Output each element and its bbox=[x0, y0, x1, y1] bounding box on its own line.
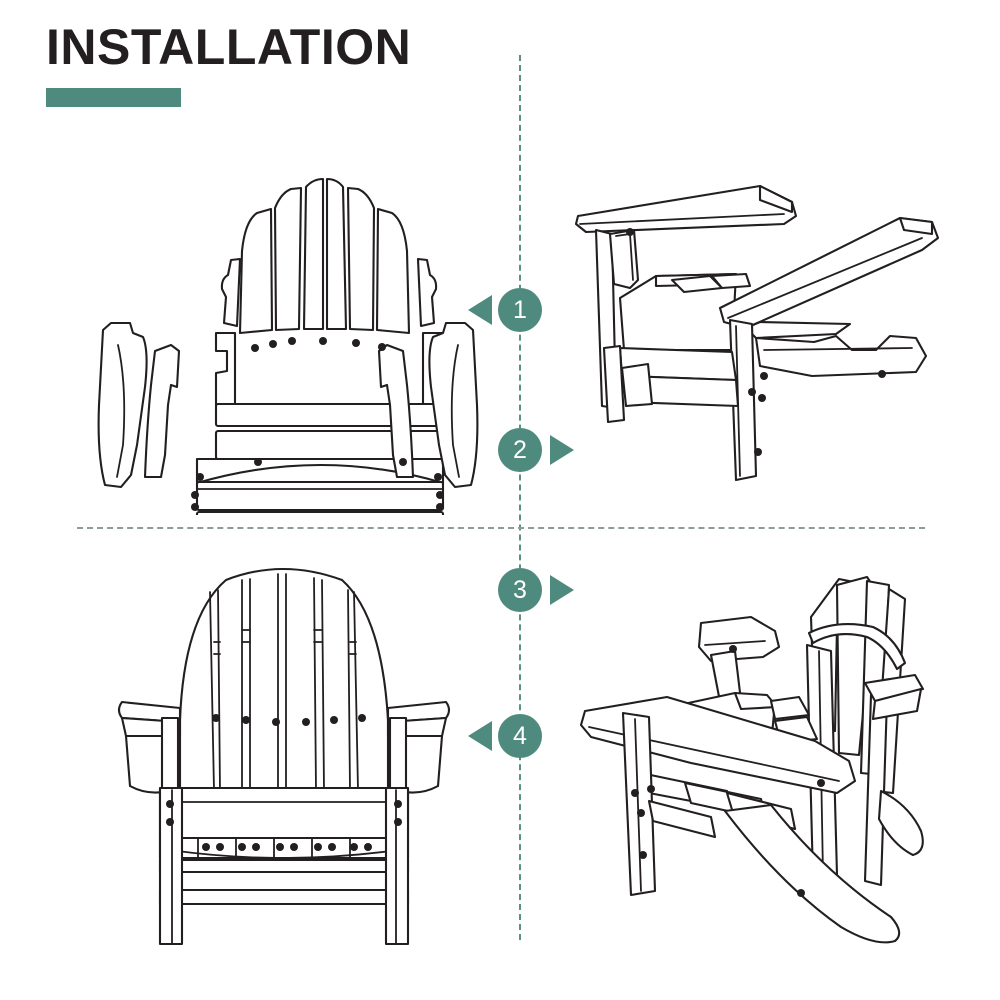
step-3-arrow-icon bbox=[550, 575, 574, 605]
illustration-frame-3d-view bbox=[560, 180, 960, 510]
step-4-arrow-icon bbox=[468, 721, 492, 751]
step-badge-3[interactable]: 3 bbox=[498, 568, 542, 612]
title-accent-bar bbox=[46, 88, 181, 107]
page-title: INSTALLATION bbox=[46, 22, 411, 72]
illustration-assembled-front-view bbox=[110, 550, 460, 950]
illustration-exploded-front-view bbox=[85, 155, 485, 515]
illustration-assembled-3d-view bbox=[575, 555, 975, 955]
divider-horizontal bbox=[77, 527, 925, 529]
installation-diagram-page: INSTALLATION 1 2 3 4 bbox=[0, 0, 1000, 1000]
step-badge-4[interactable]: 4 bbox=[498, 714, 542, 758]
divider-vertical bbox=[519, 55, 521, 940]
step-badge-2[interactable]: 2 bbox=[498, 428, 542, 472]
step-badge-1[interactable]: 1 bbox=[498, 288, 542, 332]
